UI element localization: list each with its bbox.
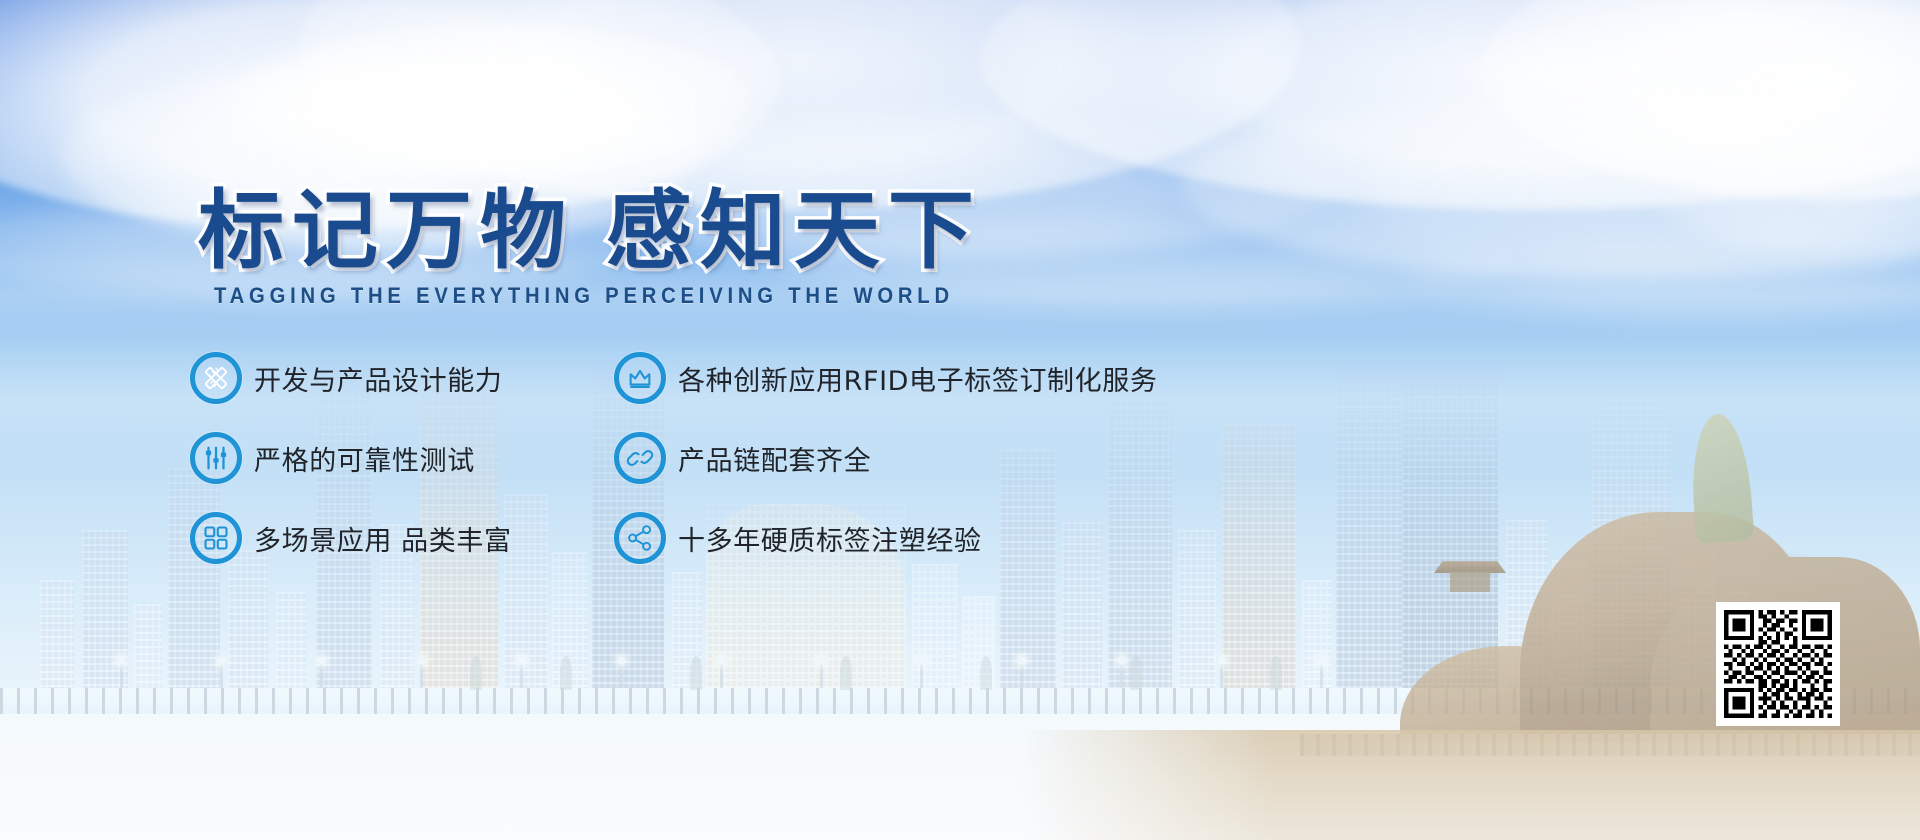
feature-label: 各种创新应用RFID电子标签订制化服务 bbox=[678, 359, 1157, 398]
promo-banner: 标记万物 感知天下 TAGGING THE EVERYTHING PERCEIV… bbox=[0, 0, 1920, 840]
ruler-pencil-icon bbox=[190, 352, 242, 404]
feature-label: 十多年硬质标签注塑经验 bbox=[678, 519, 982, 558]
feature-label: 多场景应用 品类丰富 bbox=[254, 519, 512, 558]
feature-label: 开发与产品设计能力 bbox=[254, 359, 502, 398]
feature-label: 严格的可靠性测试 bbox=[254, 439, 475, 478]
banner-content: 标记万物 感知天下 TAGGING THE EVERYTHING PERCEIV… bbox=[0, 0, 1920, 840]
page-subtitle: TAGGING THE EVERYTHING PERCEIVING THE WO… bbox=[214, 283, 954, 309]
feature-item-experience[interactable]: 十多年硬质标签注塑经验 bbox=[614, 512, 982, 564]
feature-item-rfid-custom[interactable]: 各种创新应用RFID电子标签订制化服务 bbox=[614, 352, 1157, 404]
feature-item-design[interactable]: 开发与产品设计能力 bbox=[190, 352, 502, 404]
qr-code-image bbox=[1724, 610, 1832, 718]
feature-item-testing[interactable]: 严格的可靠性测试 bbox=[190, 432, 475, 484]
chain-link-icon bbox=[614, 432, 666, 484]
feature-item-product-chain[interactable]: 产品链配套齐全 bbox=[614, 432, 871, 484]
page-title: 标记万物 感知天下 bbox=[198, 160, 982, 285]
grid-squares-icon bbox=[190, 512, 242, 564]
crown-icon bbox=[614, 352, 666, 404]
sliders-icon bbox=[190, 432, 242, 484]
share-nodes-icon bbox=[614, 512, 666, 564]
feature-label: 产品链配套齐全 bbox=[678, 439, 871, 478]
feature-item-scenarios[interactable]: 多场景应用 品类丰富 bbox=[190, 512, 512, 564]
qr-code[interactable] bbox=[1716, 602, 1840, 726]
